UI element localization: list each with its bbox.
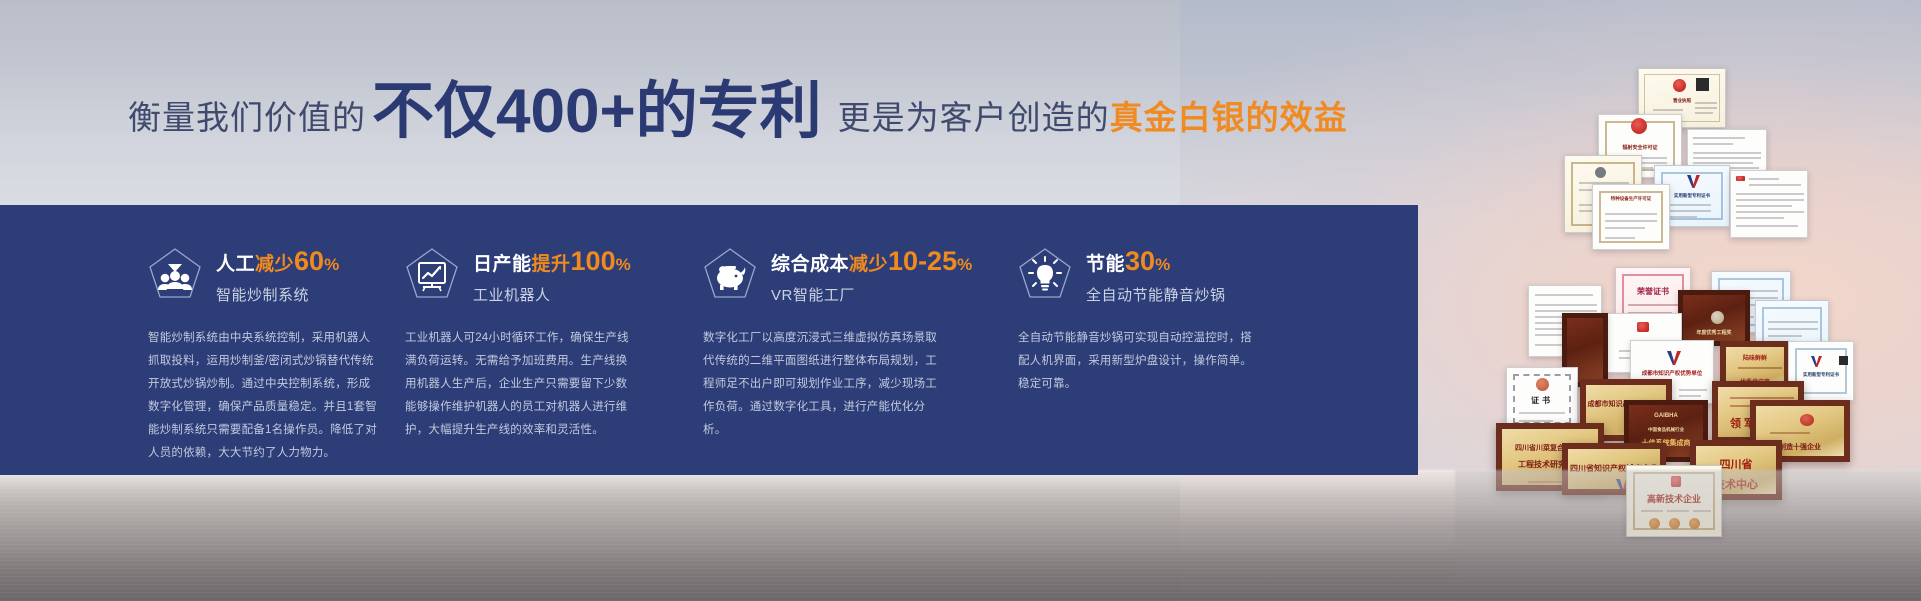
feature-title-4: 节能30% [1086, 247, 1226, 277]
feature-subtitle-4: 全自动节能静音炒锅 [1086, 284, 1226, 305]
certificate-certificate-basic[interactable]: 证书 [1506, 367, 1578, 431]
feature-body-3: 数字化工厂以高度沉浸式三维虚拟仿真场景取代传统的二维平面图纸进行整体布局规划，工… [703, 327, 943, 442]
headline-lead: 衡量我们价值的 [128, 91, 366, 139]
lightbulb-icon [1018, 247, 1072, 301]
headline-mid: 更是为客户创造的 [838, 91, 1110, 139]
feature-title-number-2: 100 [571, 246, 616, 276]
feature-item-4: 节能30% 全自动节能静音炒锅 全自动节能静音炒锅可实现自动控温控时，搭配人机界… [970, 205, 1300, 475]
cert-label: 证书 [1507, 395, 1577, 406]
certificate-test-report[interactable] [1730, 170, 1808, 238]
certificate-stack: 营业执照 辐射安全许可证 [1440, 45, 1921, 485]
feature-title-number-4: 30 [1125, 246, 1155, 276]
chart-board-icon [405, 247, 459, 301]
banner-stage: 衡量我们价值的 不仅400+的专利 更是为客户创造的 真金白银的效益 [0, 0, 1921, 601]
feature-item-1: 人工减少60% 智能炒制系统 智能炒制系统由中央系统控制，采用机器人抓取投料，运… [0, 205, 330, 475]
feature-body-2: 工业机器人可24小时循环工作，确保生产线满负荷运转。无需给予加班费用。生产线换用… [405, 327, 637, 442]
feature-item-3: 综合成本减少10-25% VR智能工厂 数字化工厂以高度沉浸式三维虚拟仿真场景取… [648, 205, 970, 475]
feature-title-unit-4: % [1155, 255, 1171, 274]
feature-item-2: 日产能提升100% 工业机器人 工业机器人可24小时循环工作，确保生产线满负荷运… [330, 205, 648, 475]
feature-subtitle-1: 智能炒制系统 [216, 284, 340, 305]
feature-subtitle-2: 工业机器人 [473, 284, 631, 305]
cert-label: 年度优秀工程奖 [1683, 329, 1745, 336]
features-panel: 人工减少60% 智能炒制系统 智能炒制系统由中央系统控制，采用机器人抓取投料，运… [0, 205, 1418, 475]
feature-title-prefix-4: 节能 [1086, 254, 1125, 275]
feature-title-1: 人工减少60% [216, 247, 340, 277]
headline-strong: 不仅400+的专利 [372, 81, 822, 143]
certificate-special-equipment[interactable]: 特种设备生产许可证 [1592, 184, 1670, 250]
feature-title-highlight-1: 减少 [255, 254, 294, 275]
feature-title-prefix-1: 人工 [216, 254, 255, 275]
certificate-engineering-award[interactable]: 年度优秀工程奖 [1678, 290, 1750, 346]
feature-title-prefix-3: 综合成本 [771, 254, 849, 275]
feature-title-2: 日产能提升100% [473, 247, 631, 277]
reflection-overlay [1455, 470, 1921, 601]
piggy-bank-icon [703, 247, 757, 301]
feature-body-4: 全自动节能静音炒锅可实现自动控温控时，搭配人机界面，采用新型炉盘设计，操作简单。… [1018, 327, 1260, 396]
feature-subtitle-3: VR智能工厂 [771, 284, 973, 305]
feature-title-number-3: 10-25 [888, 246, 957, 276]
page-headline: 衡量我们价值的 不仅400+的专利 更是为客户创造的 真金白银的效益 [128, 78, 1348, 140]
cert-label: 辐射安全许可证 [1599, 144, 1681, 151]
feature-title-prefix-2: 日产能 [473, 254, 532, 275]
people-group-icon [148, 247, 202, 301]
headline-accent: 真金白银的效益 [1110, 91, 1348, 139]
feature-title-number-1: 60 [294, 246, 324, 276]
feature-title-3: 综合成本减少10-25% [771, 247, 973, 277]
cert-label: 成都市知识产权优势单位 [1631, 369, 1713, 377]
feature-title-highlight-3: 减少 [849, 254, 888, 275]
feature-title-highlight-2: 提升 [532, 254, 571, 275]
cert-label: 特种设备生产许可证 [1593, 196, 1669, 202]
feature-title-unit-2: % [616, 255, 632, 274]
cert-label: 实用新型专利证书 [1789, 372, 1853, 378]
